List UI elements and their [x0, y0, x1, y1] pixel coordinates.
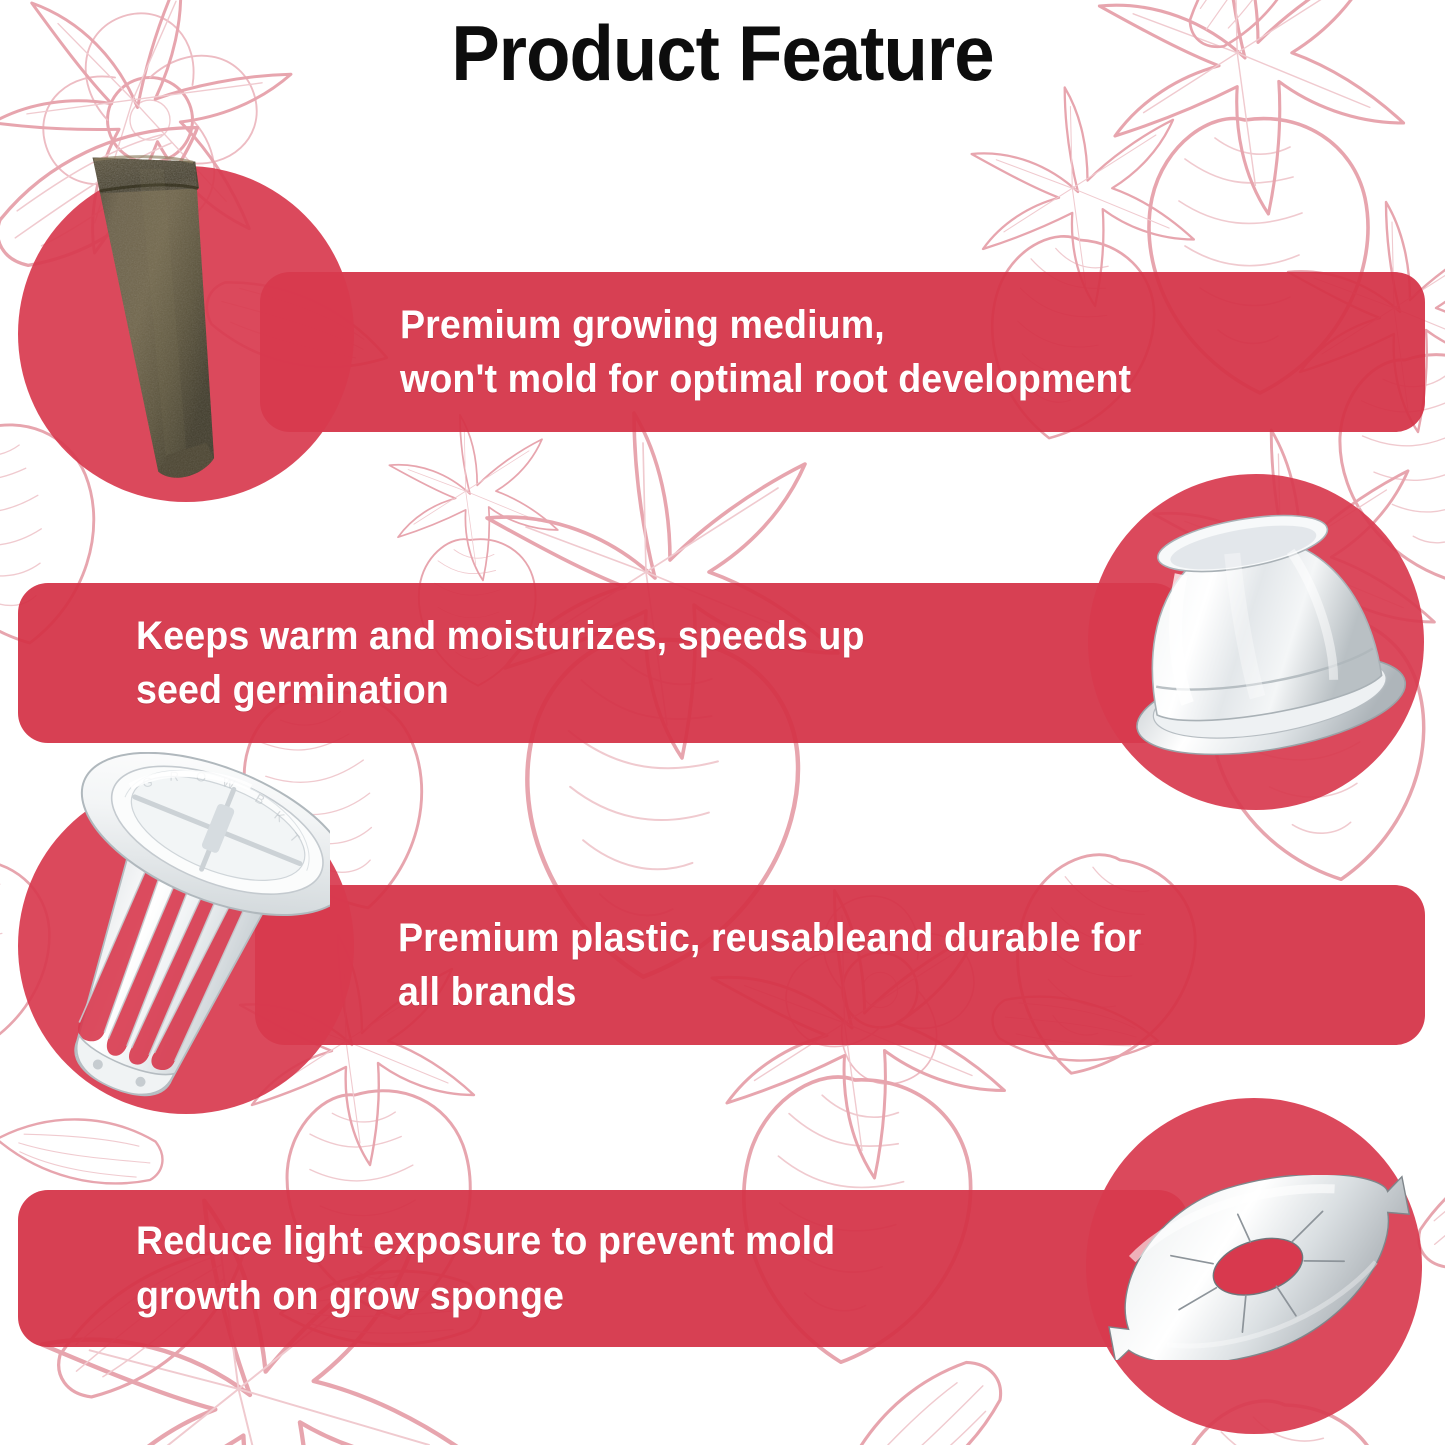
feature-circle-4 — [1086, 1098, 1422, 1434]
feature-circle-2 — [1088, 474, 1424, 810]
feature-circle-1 — [18, 166, 354, 502]
feature-bar-4: Reduce light exposure to prevent mold gr… — [18, 1190, 1188, 1347]
feature-text-1: Premium growing medium, won't mold for o… — [400, 298, 1131, 407]
feature-bar-2: Keeps warm and moisturizes, speeds up se… — [18, 583, 1183, 743]
feature-text-4: Reduce light exposure to prevent mold gr… — [136, 1214, 835, 1323]
feature-bar-3: Premium plastic, reusableand durable for… — [255, 885, 1425, 1045]
feature-circle-3 — [18, 778, 354, 1114]
page-title: Product Feature — [51, 14, 1395, 92]
feature-text-3: Premium plastic, reusableand durable for… — [398, 911, 1141, 1020]
feature-text-2: Keeps warm and moisturizes, speeds up se… — [136, 609, 865, 718]
feature-bar-1: Premium growing medium, won't mold for o… — [260, 272, 1425, 432]
product-feature-infographic: .ln{fill:none;stroke:#e7a5ae;stroke-widt… — [0, 0, 1445, 1445]
